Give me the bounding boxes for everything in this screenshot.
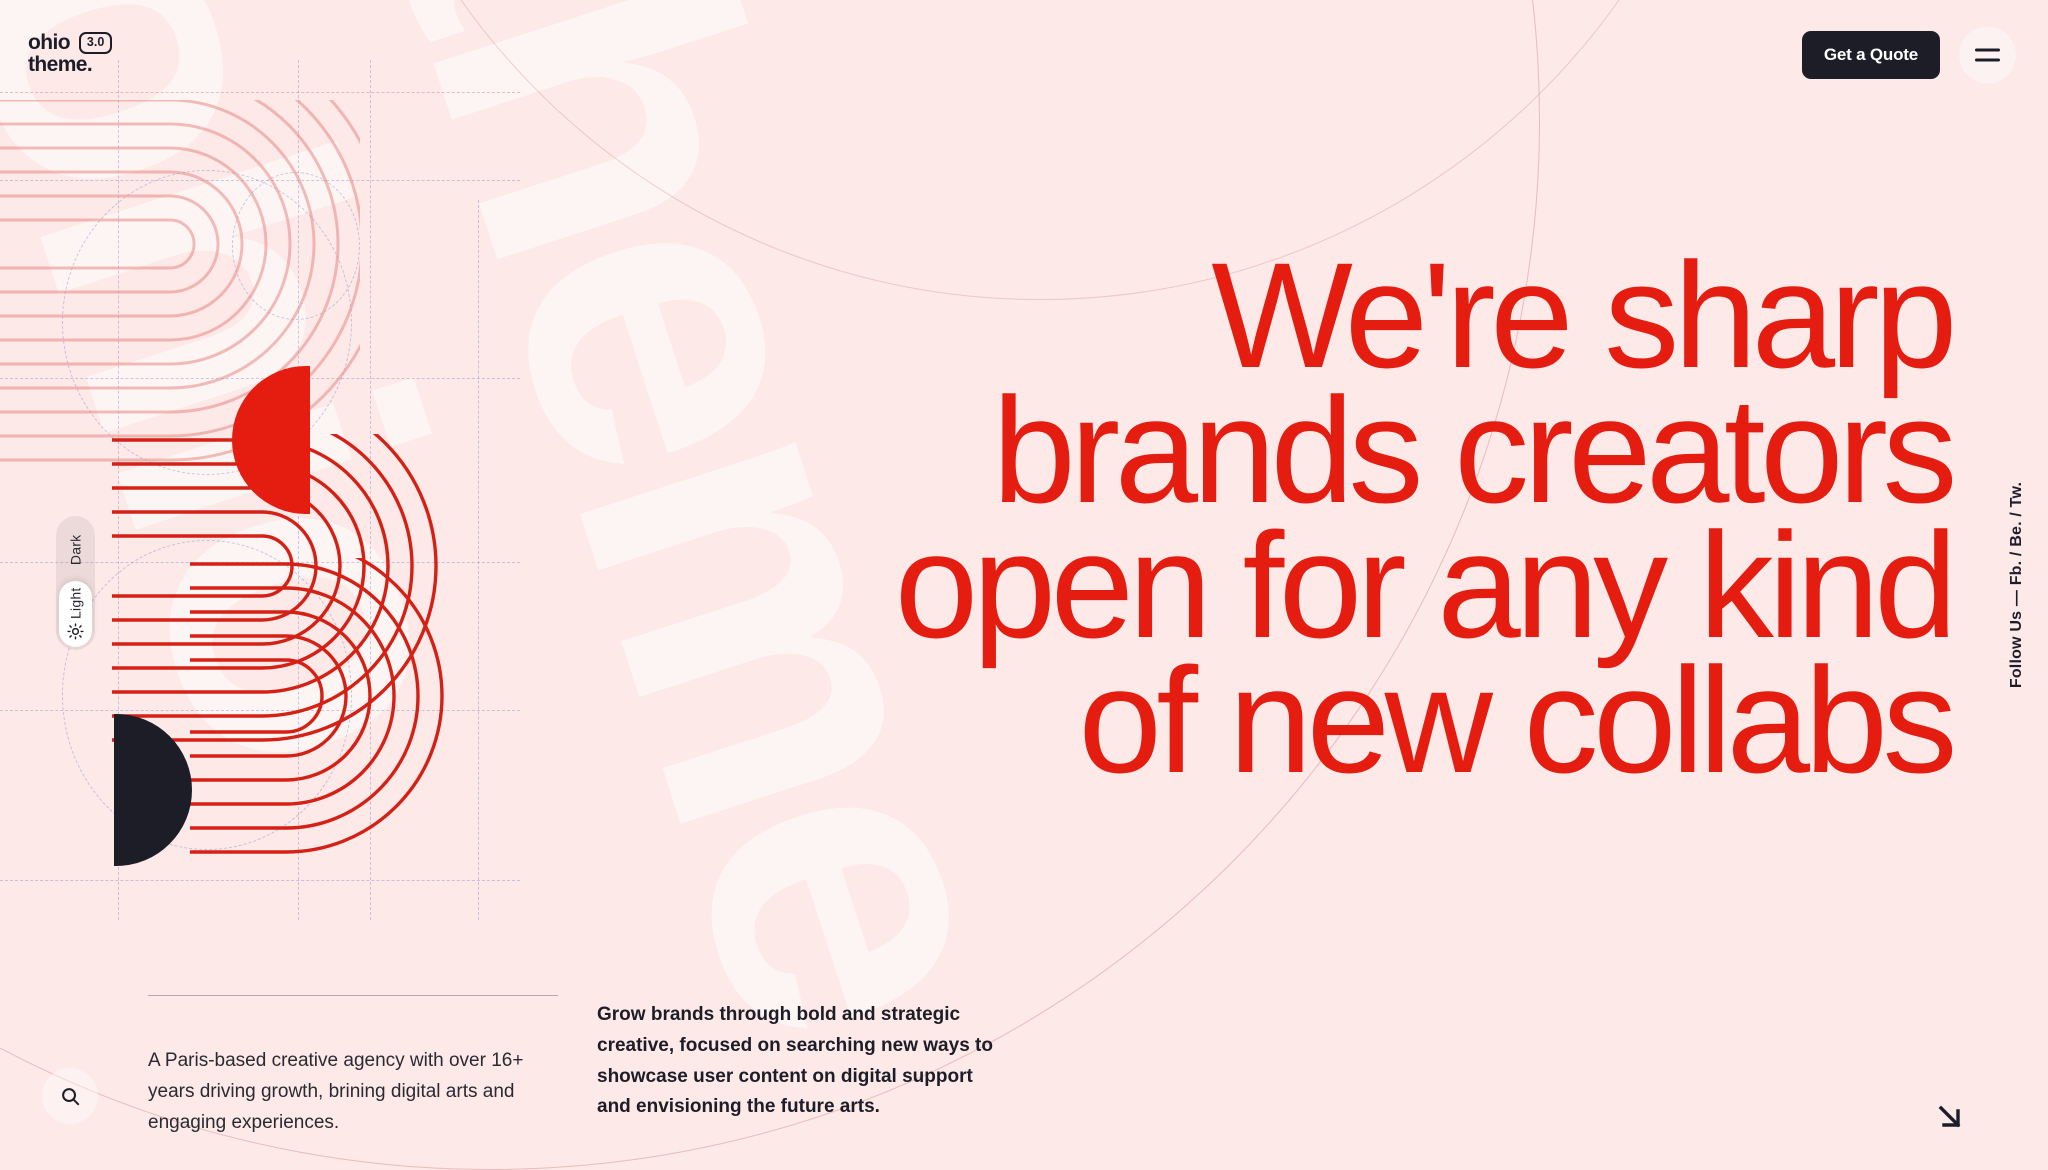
search-icon[interactable]	[42, 1068, 98, 1124]
intro-right-paragraph: Grow brands through bold and strategic c…	[597, 1000, 1007, 1123]
logo-word-ohio: ohio	[28, 32, 70, 54]
hero-page: ohio theme	[0, 0, 2048, 1170]
logo-word-theme: theme.	[28, 54, 112, 76]
menu-bar-bottom	[1975, 59, 2000, 62]
striped-arch-red-lower	[190, 558, 610, 978]
intro-left-column: A Paris-based creative agency with over …	[148, 995, 548, 1138]
arrow-down-right-icon[interactable]	[1928, 1095, 1972, 1139]
headline-line-4: of new collabs	[772, 653, 1952, 788]
theme-option-light-label: Light	[68, 588, 84, 619]
logo-version-badge: 3.0	[79, 32, 112, 53]
brand-logo[interactable]: ohio 3.0 theme.	[28, 32, 112, 76]
theme-option-dark[interactable]: Dark	[59, 519, 92, 581]
get-a-quote-button[interactable]: Get a Quote	[1802, 31, 1940, 79]
social-follow-links[interactable]: Follow Us — Fb. / Be. / Tw.	[2008, 482, 2026, 688]
headline-line-2: brands creators	[772, 383, 1952, 518]
hero-headline: We're sharp brands creators open for any…	[772, 248, 1952, 788]
sun-icon	[67, 623, 84, 640]
theme-mode-toggle[interactable]: Dark Light	[56, 516, 95, 650]
theme-option-light[interactable]: Light	[59, 581, 92, 647]
headline-line-3: open for any kind	[772, 518, 1952, 653]
intro-left-paragraph: A Paris-based creative agency with over …	[148, 1046, 548, 1138]
headline-line-1: We're sharp	[772, 248, 1952, 383]
menu-bar-top	[1975, 49, 2000, 52]
divider-rule	[148, 995, 558, 996]
intro-right-column: Grow brands through bold and strategic c…	[597, 1000, 1007, 1123]
hamburger-menu-icon[interactable]	[1959, 27, 2016, 84]
follow-us-label[interactable]: Follow Us — Fb. / Be. / Tw.	[2008, 482, 2026, 688]
